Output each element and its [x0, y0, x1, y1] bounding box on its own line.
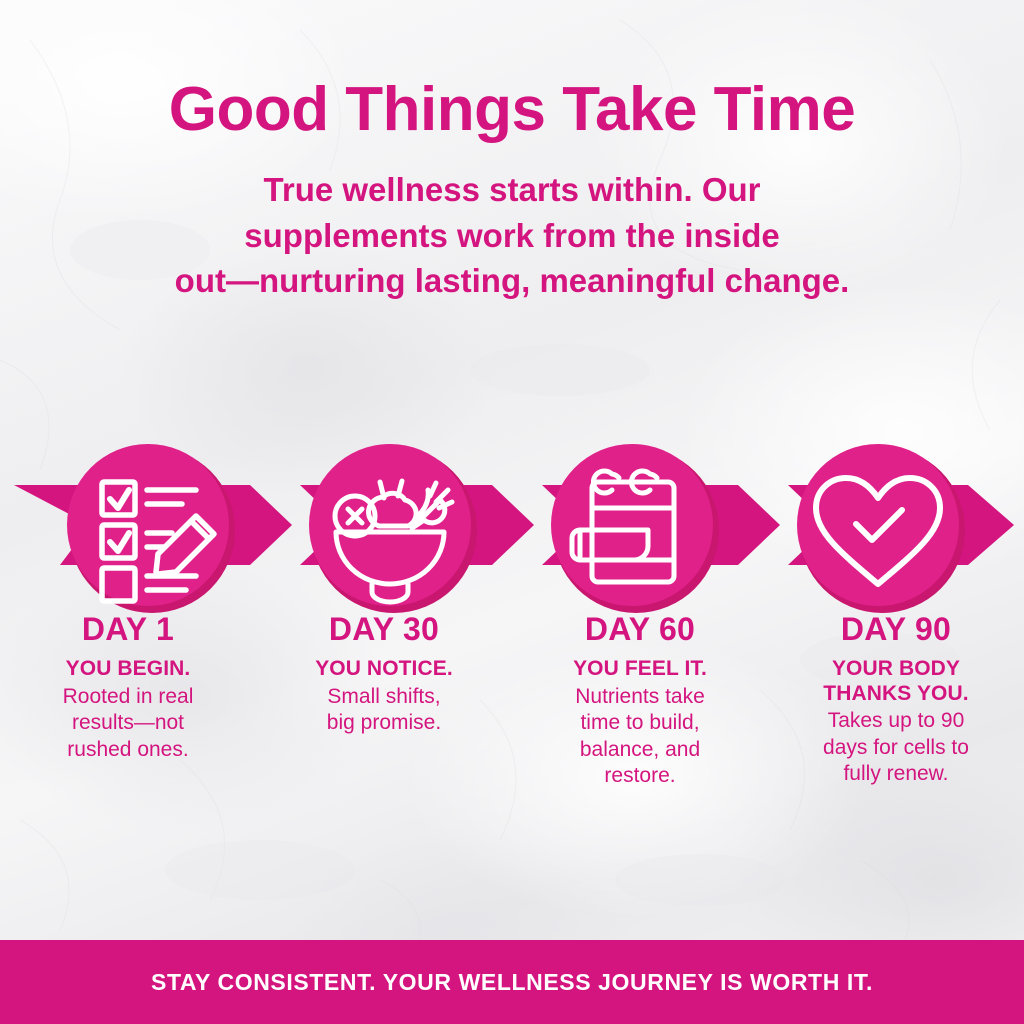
- step-3-lead: YOU FEEL IT.: [524, 657, 756, 682]
- subtitle: True wellness starts within. Our supplem…: [82, 167, 942, 304]
- step-4-lead-line-1: YOUR BODY: [780, 657, 1012, 682]
- caption-step-4: DAY 90 YOUR BODY THANKS YOU. Takes up to…: [768, 612, 1024, 789]
- step-4-day-label: DAY 90: [780, 612, 1012, 648]
- step-2-node[interactable]: [309, 444, 477, 613]
- step-4-node[interactable]: [797, 444, 965, 613]
- step-4-body-line-3: fully renew.: [780, 761, 1012, 787]
- step-3-day-label: DAY 60: [524, 612, 756, 648]
- step-3-body-line-2: time to build,: [524, 710, 756, 736]
- step-2-body-line-1: Small shifts,: [268, 684, 500, 710]
- footer-text: STAY CONSISTENT. YOUR WELLNESS JOURNEY I…: [151, 969, 873, 996]
- step-1-body: Rooted in real results—not rushed ones.: [12, 684, 244, 763]
- timeline-svg: [0, 420, 1024, 620]
- caption-step-1: DAY 1 YOU BEGIN. Rooted in real results—…: [0, 612, 256, 789]
- step-2-body-line-2: big promise.: [268, 710, 500, 736]
- infographic-page: Good Things Take Time True wellness star…: [0, 0, 1024, 1024]
- step-3-body-line-4: restore.: [524, 763, 756, 789]
- step-1-body-line-3: rushed ones.: [12, 737, 244, 763]
- step-2-lead: YOU NOTICE.: [268, 657, 500, 682]
- step-4-body: Takes up to 90 days for cells to fully r…: [780, 708, 1012, 787]
- step-1-node[interactable]: [67, 444, 235, 613]
- step-4-body-line-1: Takes up to 90: [780, 708, 1012, 734]
- step-1-body-line-2: results—not: [12, 710, 244, 736]
- step-4-body-line-2: days for cells to: [780, 735, 1012, 761]
- page-title: Good Things Take Time: [0, 78, 1024, 141]
- step-4-lead-line-2: THANKS YOU.: [780, 682, 1012, 707]
- subtitle-line-3: out—nurturing lasting, meaningful change…: [82, 258, 942, 304]
- subtitle-line-2: supplements work from the inside: [82, 213, 942, 259]
- step-3-body-line-1: Nutrients take: [524, 684, 756, 710]
- step-3-node[interactable]: [551, 444, 719, 613]
- step-1-body-line-1: Rooted in real: [12, 684, 244, 710]
- step-2-day-label: DAY 30: [268, 612, 500, 648]
- footer-banner: STAY CONSISTENT. YOUR WELLNESS JOURNEY I…: [0, 940, 1024, 1024]
- timeline-band: [0, 420, 1024, 620]
- caption-step-3: DAY 60 YOU FEEL IT. Nutrients take time …: [512, 612, 768, 789]
- header: Good Things Take Time True wellness star…: [0, 0, 1024, 304]
- step-4-lead: YOUR BODY THANKS YOU.: [780, 657, 1012, 707]
- step-1-lead: YOU BEGIN.: [12, 657, 244, 682]
- subtitle-line-1: True wellness starts within. Our: [82, 167, 942, 213]
- timeline-captions: DAY 1 YOU BEGIN. Rooted in real results—…: [0, 612, 1024, 789]
- step-1-day-label: DAY 1: [12, 612, 244, 648]
- step-3-body-line-3: balance, and: [524, 737, 756, 763]
- caption-step-2: DAY 30 YOU NOTICE. Small shifts, big pro…: [256, 612, 512, 789]
- step-2-body: Small shifts, big promise.: [268, 684, 500, 737]
- step-3-body: Nutrients take time to build, balance, a…: [524, 684, 756, 790]
